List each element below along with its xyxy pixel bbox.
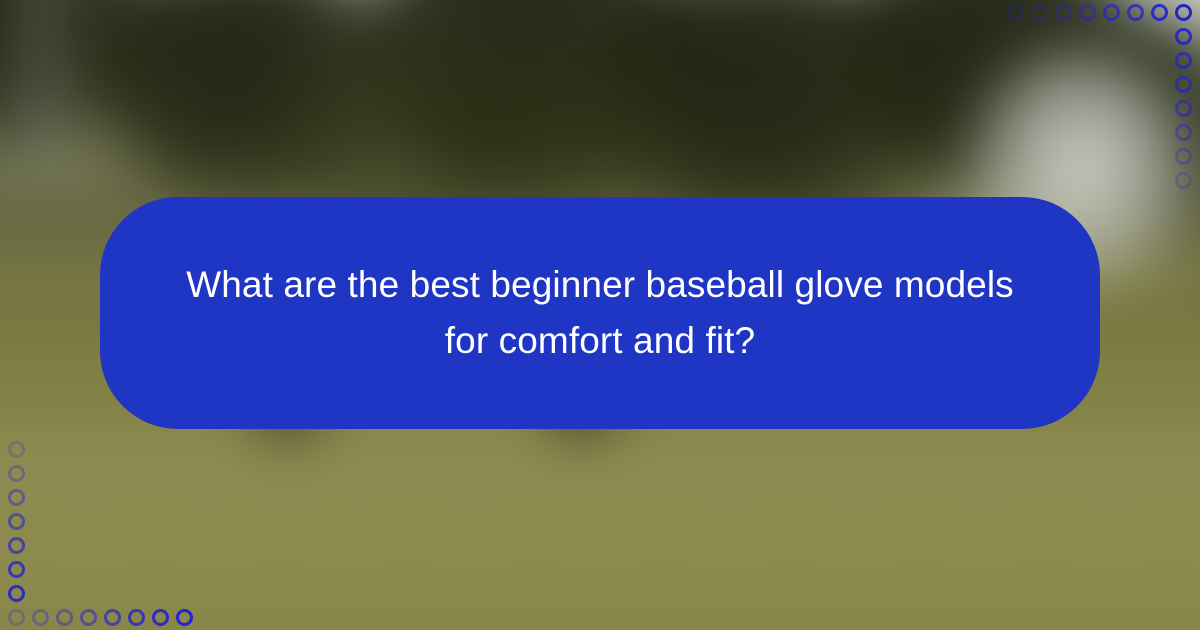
decorative-dot [1055,4,1072,21]
decorative-dot [1175,76,1192,93]
decorative-dot [8,513,25,530]
decorative-dot [80,609,97,626]
question-text: What are the best beginner baseball glov… [170,257,1030,369]
decorative-dot [8,537,25,554]
decorative-dot [104,609,121,626]
decorative-dot [1151,4,1168,21]
decorative-dot [8,465,25,482]
decorative-dot [32,609,49,626]
decorative-dot [176,609,193,626]
fence-pole [25,0,53,172]
question-card: What are the best beginner baseball glov… [100,197,1100,429]
decorative-dot [1031,4,1048,21]
decorative-dot [1175,52,1192,69]
decorative-dot [1007,4,1024,21]
decorative-dot [8,585,25,602]
decorative-dot [1175,124,1192,141]
decorative-dot [1127,4,1144,21]
decorative-dot [8,609,25,626]
decorative-dot [1103,4,1120,21]
decorative-dot [8,489,25,506]
decorative-dot [1175,28,1192,45]
decorative-dot [1175,148,1192,165]
decorative-dot [152,609,169,626]
decorative-dot [56,609,73,626]
decorative-dot [1175,172,1192,189]
decorative-dot [1175,100,1192,117]
decorative-dot [8,441,25,458]
screenshot-stage: What are the best beginner baseball glov… [0,0,1200,630]
decorative-dot [1175,4,1192,21]
decorative-dot [8,561,25,578]
decorative-dot [128,609,145,626]
decorative-dot [1079,4,1096,21]
